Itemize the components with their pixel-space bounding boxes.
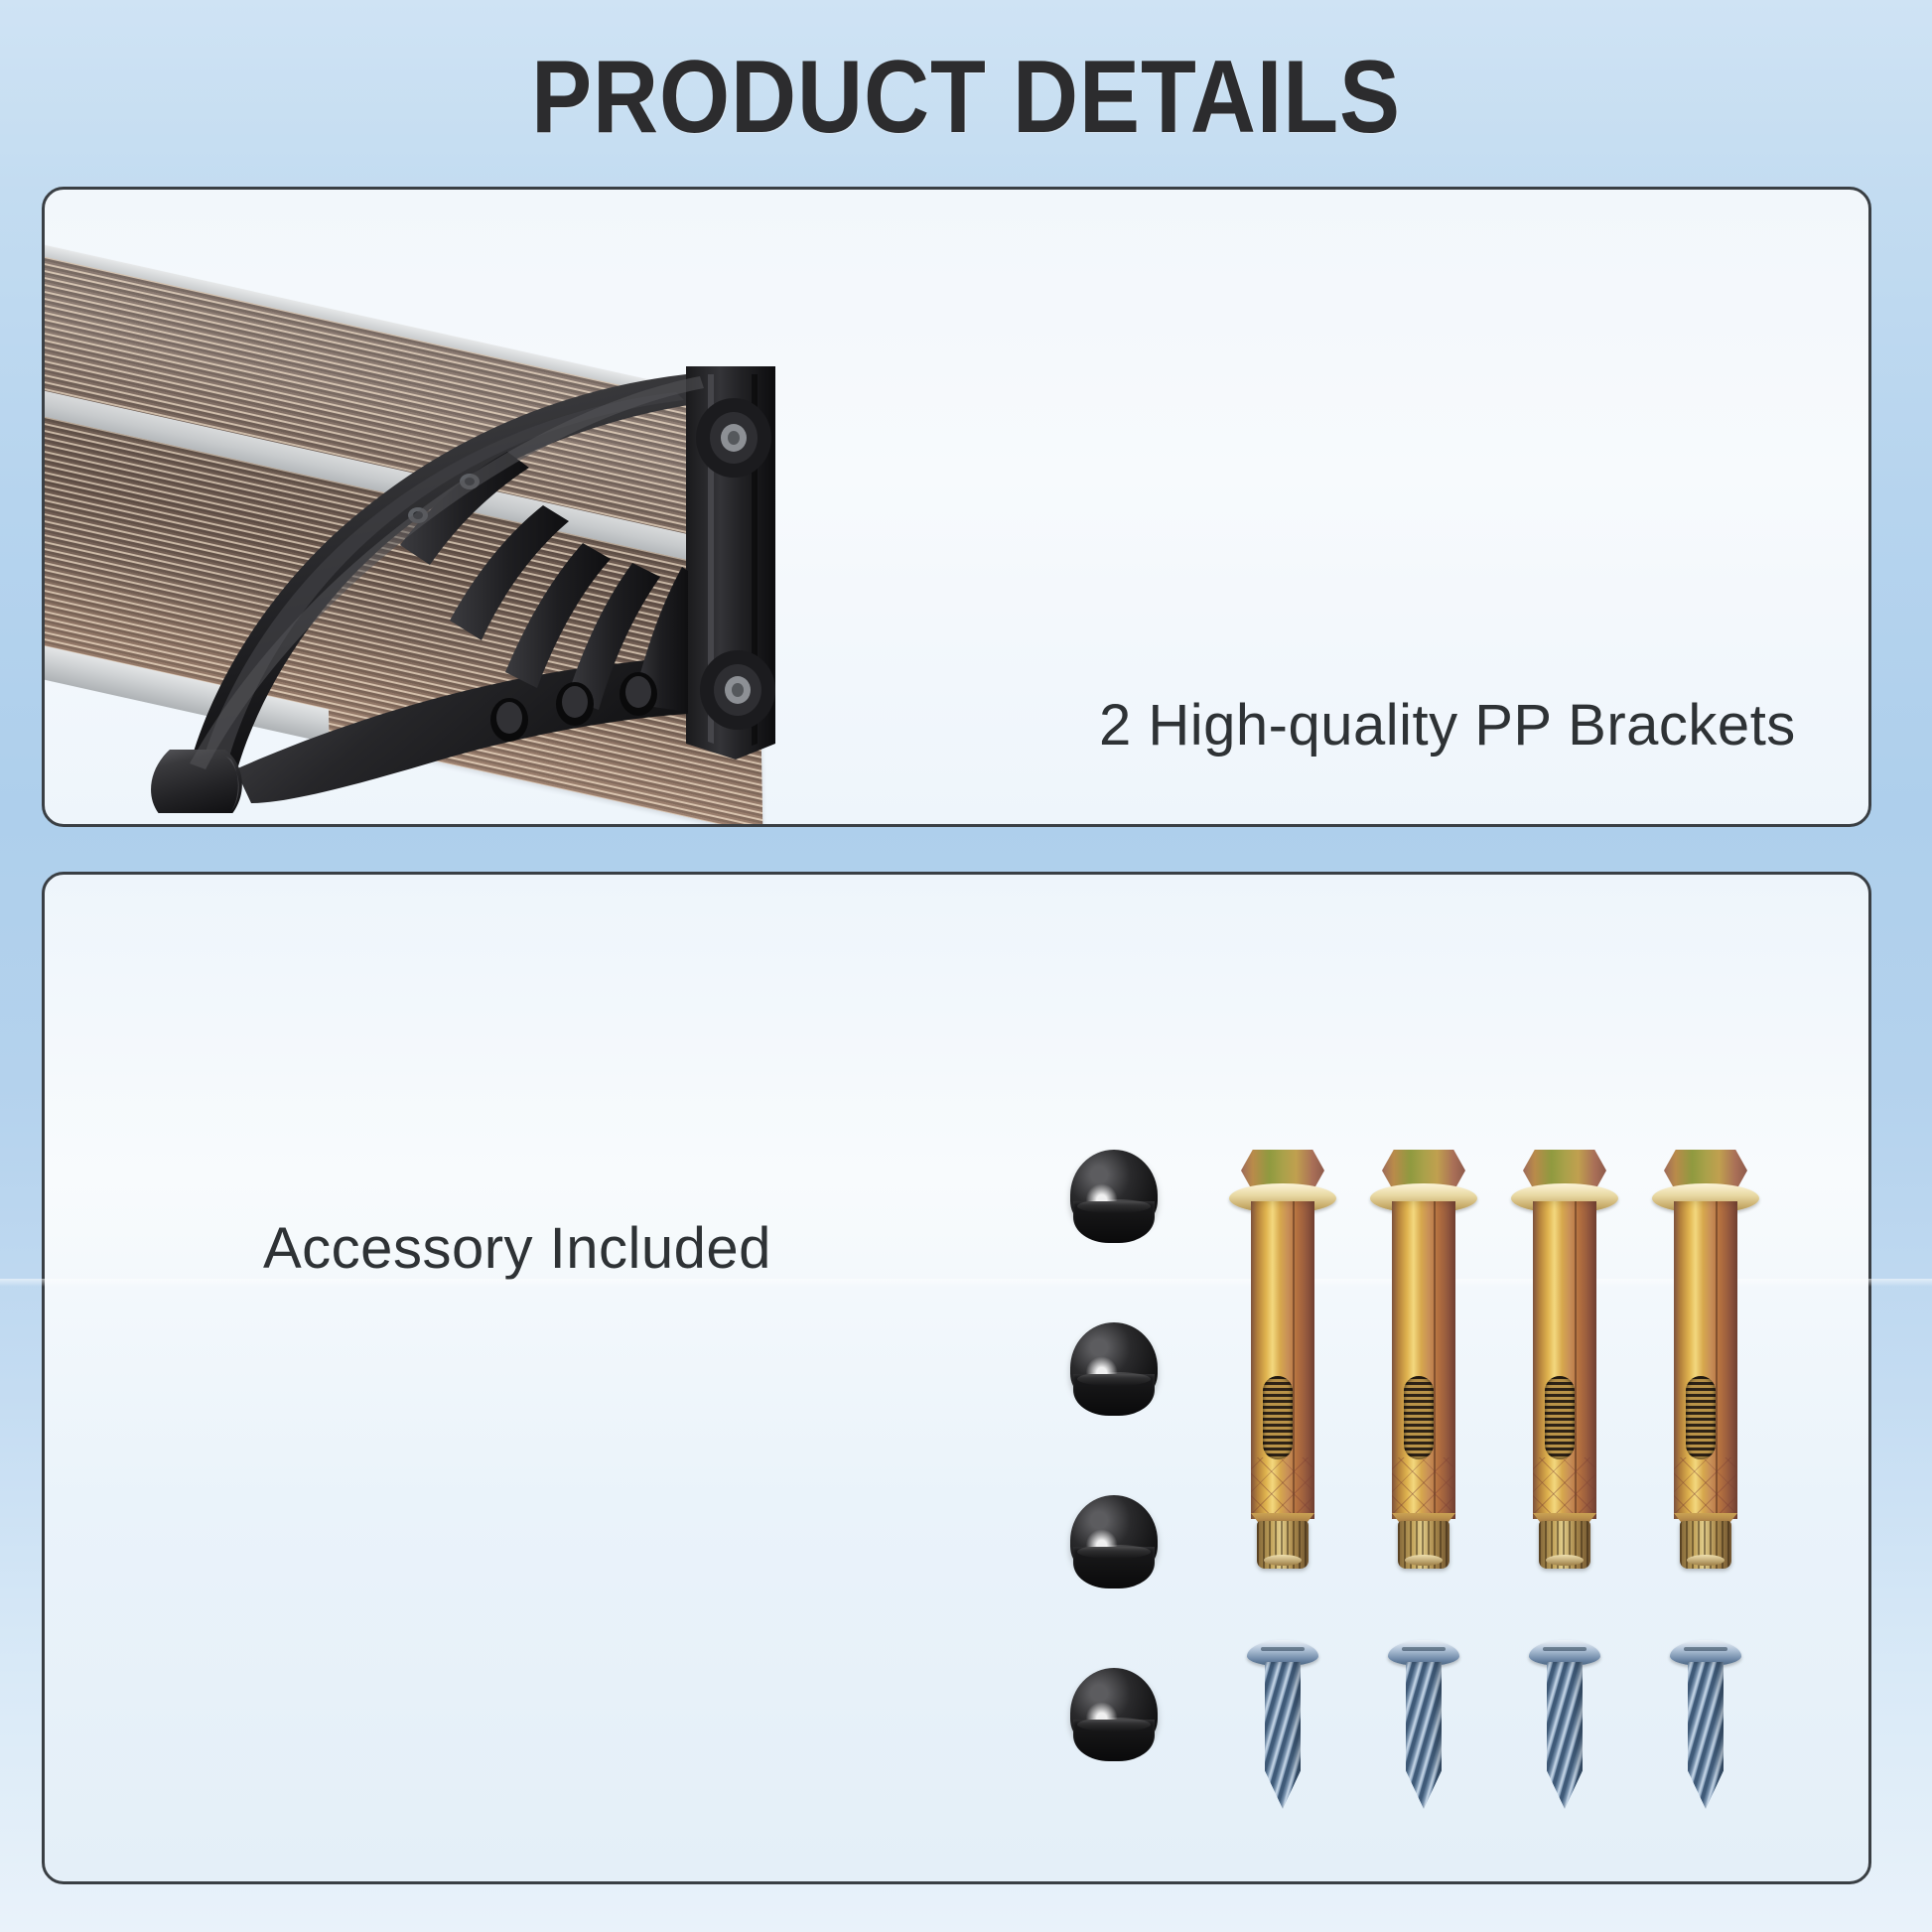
infographic-canvas: PRODUCT DETAILS [0, 0, 1932, 1932]
page-title: PRODUCT DETAILS [116, 42, 1816, 153]
awning-bracket-illustration [42, 207, 855, 813]
pp-bracket-icon [42, 207, 855, 813]
brackets-caption: 2 High-quality PP Brackets [1099, 694, 1796, 758]
accessory-panel: Accessory Included [42, 872, 1871, 1884]
accessory-caption: Accessory Included [263, 1217, 771, 1281]
brackets-panel: 2 High-quality PP Brackets [42, 187, 1871, 827]
bracket-lower-chord [235, 654, 688, 803]
